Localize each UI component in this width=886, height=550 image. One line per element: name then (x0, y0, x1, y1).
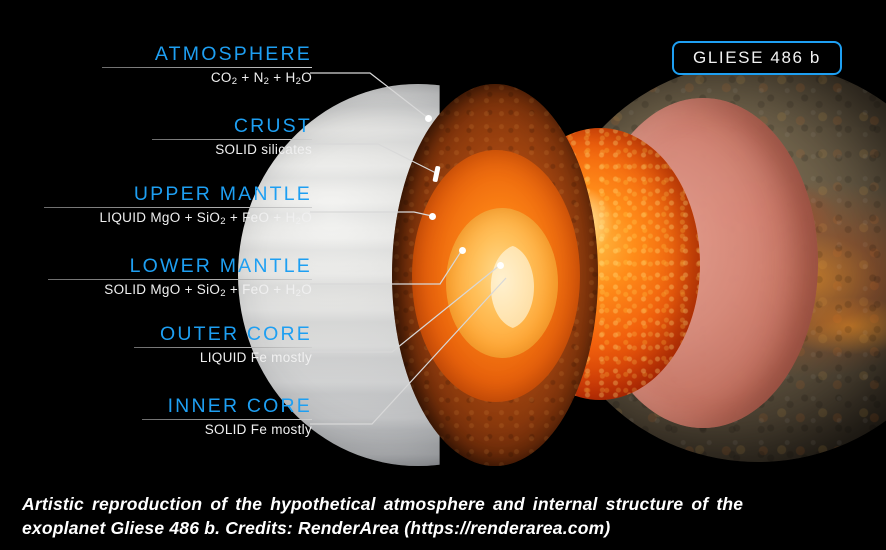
label-rule-upper-mantle (44, 207, 312, 208)
label-composition-lower-mantle: SOLID MgO + SiO2 + FeO + H2O (0, 282, 312, 300)
label-title-crust: CRUST (0, 116, 312, 136)
label-block-atmosphere: ATMOSPHERE CO2 + N2 + H2O (0, 44, 312, 88)
leader-line-upper-mantle (310, 212, 432, 216)
leader-line-crust (310, 144, 436, 173)
label-block-lower-mantle: LOWER MANTLE SOLID MgO + SiO2 + FeO + H2… (0, 256, 312, 300)
label-rule-atmosphere (102, 67, 312, 68)
leader-line-lower-mantle (310, 250, 462, 284)
caption-line-2: exoplanet Gliese 486 b. Credits: RenderA… (22, 518, 610, 539)
label-composition-crust: SOLID silicates (0, 142, 312, 158)
marker-lower-mantle (459, 247, 466, 254)
label-composition-outer-core: LIQUID Fe mostly (0, 350, 312, 366)
planet-name-label: GLIESE 486 b (693, 48, 821, 68)
illustration-canvas: ATMOSPHERE CO2 + N2 + H2O CRUST SOLID si… (0, 0, 886, 550)
label-title-inner-core: INNER CORE (0, 396, 312, 416)
label-composition-inner-core: SOLID Fe mostly (0, 422, 312, 438)
label-rule-inner-core (142, 419, 312, 420)
label-rule-outer-core (134, 347, 312, 348)
label-title-lower-mantle: LOWER MANTLE (0, 256, 312, 276)
label-rule-crust (152, 139, 312, 140)
label-rule-lower-mantle (48, 279, 312, 280)
caption-bar: Artistic reproduction of the hypothetica… (0, 488, 886, 550)
label-block-crust: CRUST SOLID silicates (0, 116, 312, 158)
label-composition-upper-mantle: LIQUID MgO + SiO2 + FeO + H2O (0, 210, 312, 228)
leader-line-inner-core (310, 278, 506, 424)
marker-upper-mantle (429, 213, 436, 220)
label-title-outer-core: OUTER CORE (0, 324, 312, 344)
label-block-upper-mantle: UPPER MANTLE LIQUID MgO + SiO2 + FeO + H… (0, 184, 312, 228)
label-title-upper-mantle: UPPER MANTLE (0, 184, 312, 204)
label-block-outer-core: OUTER CORE LIQUID Fe mostly (0, 324, 312, 366)
marker-outer-core (497, 262, 504, 269)
label-title-atmosphere: ATMOSPHERE (0, 44, 312, 64)
label-block-inner-core: INNER CORE SOLID Fe mostly (0, 396, 312, 438)
leader-line-atmosphere (310, 73, 428, 118)
leader-line-outer-core (310, 265, 500, 352)
label-composition-atmosphere: CO2 + N2 + H2O (0, 70, 312, 88)
marker-atmosphere (425, 115, 432, 122)
planet-name-badge: GLIESE 486 b (672, 41, 842, 75)
caption-line-1: Artistic reproduction of the hypothetica… (22, 494, 743, 515)
